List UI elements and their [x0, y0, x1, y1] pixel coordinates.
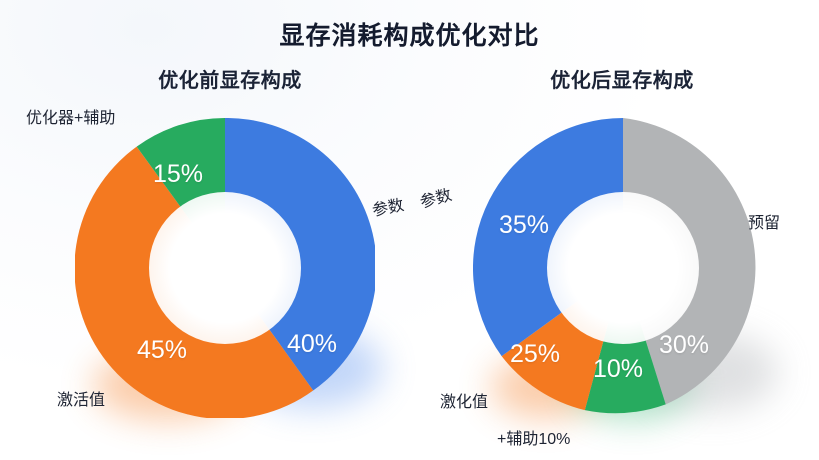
chart-subtitle-after: 优化后显存构成 — [492, 64, 752, 93]
category-label-optimizer: 优化器+辅助 — [26, 104, 115, 128]
donut-hole — [149, 192, 301, 344]
chart-subtitle-before: 优化前显存构成 — [100, 64, 360, 93]
category-label-params-left: 参数 — [370, 191, 406, 221]
category-label-activation-right: 激化值 — [440, 388, 488, 412]
donut-svg-after — [473, 118, 773, 418]
slide-canvas: 显存消耗构成优化对比 优化前显存构成 40% 45% 15% 优化器+辅助 激活… — [0, 0, 819, 460]
category-label-params-right: 参数 — [417, 181, 454, 212]
category-label-reserved: 预留 — [748, 209, 780, 233]
category-label-activation: 激活值 — [57, 386, 105, 410]
donut-chart-before: 40% 45% 15% — [75, 118, 375, 418]
donut-chart-after: 30% 10% 25% 35% — [473, 118, 773, 418]
category-label-aux: +辅助10% — [497, 425, 570, 449]
page-title: 显存消耗构成优化对比 — [0, 16, 819, 52]
donut-hole — [547, 192, 699, 344]
donut-svg-before — [75, 118, 375, 418]
